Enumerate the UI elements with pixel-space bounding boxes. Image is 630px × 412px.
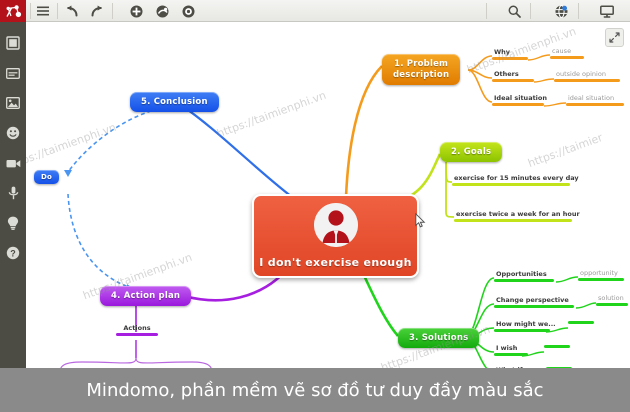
- branch-node-conclusion-label: 5. Conclusion: [141, 97, 208, 107]
- branch-node-solutions[interactable]: 3. Solutions: [398, 328, 479, 348]
- leaf-ideal-situation-ghost[interactable]: ideal situation: [566, 94, 624, 106]
- leaf-change-perspective[interactable]: Change perspective: [494, 296, 574, 308]
- person-avatar-icon: [314, 203, 358, 247]
- leaf-ideal-situation-underline: [492, 103, 544, 106]
- leaf-i-wish-ghost[interactable]: [544, 344, 570, 348]
- note-icon: [6, 36, 20, 50]
- branch-node-problem-description[interactable]: 1. Problem description: [382, 54, 460, 85]
- search-icon[interactable]: [504, 2, 524, 20]
- branch-node-problem-line2: description: [393, 70, 449, 81]
- central-topic-node[interactable]: I don't exercise enough: [252, 194, 419, 278]
- presentation-screen-icon[interactable]: [597, 2, 617, 20]
- leaf-opportunity-ghost-label: opportunity: [578, 269, 624, 278]
- leaf-why-underline: [492, 57, 528, 60]
- leaf-i-wish-label: I wish: [494, 344, 528, 353]
- sidebar-item-text[interactable]: [4, 64, 22, 82]
- toolbar-divider-1: [30, 3, 31, 19]
- leaf-solution-ghost[interactable]: solution: [596, 294, 628, 306]
- relation-circle-icon[interactable]: [178, 2, 198, 20]
- leaf-cause-label: cause: [550, 47, 584, 56]
- leaf-goal-daily-label: exercise for 15 minutes every day: [452, 174, 570, 183]
- mindmap-canvas[interactable]: I don't exercise enough 1. Problem descr…: [26, 22, 630, 368]
- toolbar-divider-4: [486, 3, 487, 19]
- leaf-others[interactable]: Others: [492, 70, 534, 82]
- sidebar-item-audio[interactable]: [4, 184, 22, 202]
- leaf-cause-underline: [550, 56, 584, 59]
- lightbulb-icon: [7, 216, 19, 230]
- leaf-change-perspective-underline: [494, 305, 574, 308]
- leaf-how-might-we-ghost[interactable]: [568, 320, 594, 324]
- leaf-ideal-situation[interactable]: Ideal situation: [492, 94, 544, 106]
- toolbar-divider-2: [57, 3, 58, 19]
- leaf-opportunities-label: Opportunities: [494, 270, 554, 279]
- leaf-solution-ghost-underline: [596, 303, 628, 306]
- caption-text: Mindomo, phần mềm vẽ sơ đồ tư duy đầy mà…: [86, 380, 543, 401]
- sidebar-item-video[interactable]: [4, 154, 22, 172]
- leaf-change-perspective-label: Change perspective: [494, 296, 574, 305]
- plus-circle-icon[interactable]: [126, 2, 146, 20]
- leaf-goal-weekly-label: exercise twice a week for an hour: [454, 210, 572, 219]
- leaf-goal-daily[interactable]: exercise for 15 minutes every day: [452, 174, 570, 186]
- leaf-i-wish-underline: [494, 353, 528, 356]
- leaf-outside-opinion-underline: [554, 79, 620, 82]
- subtopic-circle-icon[interactable]: [152, 2, 172, 20]
- leaf-outside-opinion[interactable]: outside opinion: [554, 70, 620, 82]
- branch-node-problem-line1: 1. Problem: [393, 59, 449, 70]
- sidebar-item-emoji[interactable]: [4, 124, 22, 142]
- smiley-icon: [6, 126, 20, 140]
- leaf-outside-opinion-label: outside opinion: [554, 70, 620, 79]
- leaf-opportunities-underline: [494, 279, 554, 282]
- branch-node-conclusion[interactable]: 5. Conclusion: [130, 92, 219, 112]
- branch-node-action-plan[interactable]: 4. Action plan: [100, 286, 191, 306]
- left-tool-sidebar: ?: [0, 22, 26, 368]
- mindomo-window: ?: [0, 0, 630, 412]
- branch-node-goals[interactable]: 2. Goals: [440, 142, 502, 162]
- leaf-goal-weekly-underline: [454, 219, 572, 222]
- leaf-opportunities[interactable]: Opportunities: [494, 270, 554, 282]
- leaf-ideal-situation-label: Ideal situation: [492, 94, 544, 103]
- branch-node-solutions-label: 3. Solutions: [409, 333, 468, 343]
- sidebar-item-image[interactable]: [4, 94, 22, 112]
- microphone-icon: [8, 186, 19, 200]
- branch-node-action-plan-label: 4. Action plan: [111, 291, 180, 301]
- leaf-actions[interactable]: Actions: [116, 324, 158, 336]
- caption-bar: Mindomo, phần mềm vẽ sơ đồ tư duy đầy mà…: [0, 368, 630, 412]
- leaf-actions-underline: [116, 333, 158, 336]
- leaf-how-might-we[interactable]: How might we...: [494, 320, 550, 332]
- leaf-how-might-we-underline: [494, 329, 550, 332]
- relation-node-do-label: Do: [41, 173, 52, 181]
- leaf-opportunity-ghost[interactable]: opportunity: [578, 269, 624, 281]
- leaf-goal-weekly[interactable]: exercise twice a week for an hour: [454, 210, 572, 222]
- leaf-i-wish[interactable]: I wish: [494, 344, 528, 356]
- leaf-ideal-situation-ghost-label: ideal situation: [566, 94, 624, 103]
- top-toolbar: [0, 0, 630, 22]
- leaf-others-underline: [492, 79, 534, 82]
- hamburger-menu-icon[interactable]: [33, 2, 53, 20]
- question-mark-icon: ?: [6, 246, 20, 260]
- text-box-icon: [6, 68, 20, 79]
- leaf-cause[interactable]: cause: [550, 47, 584, 59]
- leaf-ideal-situation-ghost-underline: [566, 103, 624, 106]
- toolbar-divider-5: [530, 3, 531, 19]
- share-globe-icon[interactable]: [551, 2, 571, 20]
- central-topic-label: I don't exercise enough: [254, 256, 417, 269]
- branch-node-goals-label: 2. Goals: [451, 147, 491, 157]
- image-icon: [6, 97, 20, 109]
- video-camera-icon: [6, 158, 21, 169]
- svg-text:?: ?: [10, 248, 16, 258]
- toolbar-divider-6: [578, 3, 579, 19]
- leaf-goal-daily-underline: [452, 183, 570, 186]
- mindomo-logo-icon[interactable]: [0, 0, 26, 22]
- leaf-i-wish-ghost-underline: [544, 345, 570, 348]
- redo-arrow-icon[interactable]: [86, 2, 106, 20]
- leaf-why-label: Why: [492, 48, 528, 57]
- expand-arrows-icon[interactable]: [605, 28, 624, 47]
- toolbar-divider-3: [112, 3, 113, 19]
- relation-node-do[interactable]: Do: [34, 170, 59, 184]
- sidebar-item-note[interactable]: [4, 34, 22, 52]
- leaf-solution-ghost-label: solution: [596, 294, 628, 303]
- leaf-others-label: Others: [492, 70, 534, 79]
- leaf-how-might-we-label: How might we...: [494, 320, 550, 329]
- leaf-opportunity-ghost-underline: [578, 278, 624, 281]
- leaf-actions-label: Actions: [116, 324, 158, 333]
- sidebar-item-help[interactable]: ?: [4, 244, 22, 262]
- sidebar-item-idea[interactable]: [4, 214, 22, 232]
- undo-arrow-icon[interactable]: [62, 2, 82, 20]
- leaf-why[interactable]: Why: [492, 48, 528, 60]
- leaf-how-might-we-ghost-underline: [568, 321, 594, 324]
